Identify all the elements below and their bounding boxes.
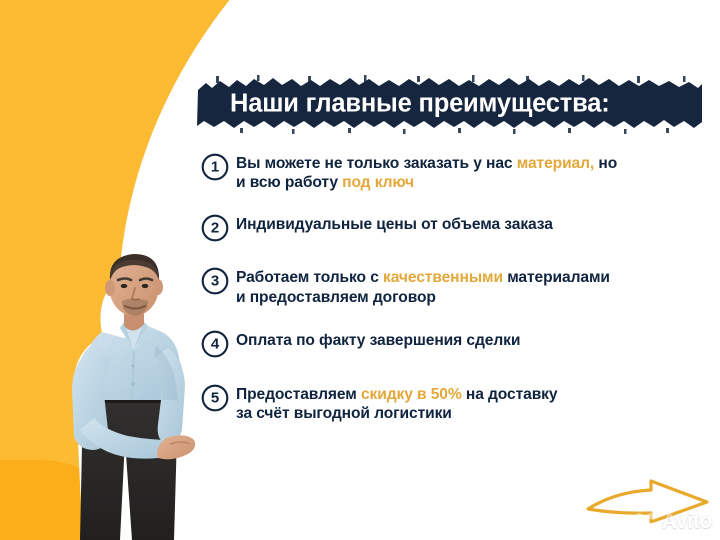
benefit-item: 4Оплата по факту завершения сделки bbox=[201, 329, 701, 358]
benefit-number-3-icon: 3 bbox=[201, 267, 229, 295]
svg-text:2: 2 bbox=[211, 220, 219, 237]
benefit-text-line: Вы можете не только заказать у нас матер… bbox=[236, 154, 617, 173]
benefit-number-1-icon: 1 bbox=[201, 153, 229, 181]
benefit-text: Оплата по факту завершения сделки bbox=[236, 329, 520, 350]
plain-phrase: за счёт выгодной логистики bbox=[236, 405, 452, 422]
benefit-text-line: Предоставляем скидку в 50% на доставку bbox=[236, 385, 557, 404]
benefit-number-4-icon: 4 bbox=[201, 330, 229, 358]
benefit-number-5-icon: 5 bbox=[201, 384, 229, 412]
plain-phrase: Оплата по факту завершения сделки bbox=[236, 332, 520, 349]
promo-poster: Наши главные преимущества: 1Вы можете не… bbox=[0, 0, 720, 540]
man-in-blue-shirt-photo bbox=[28, 168, 218, 540]
page-title: Наши главные преимущества: bbox=[230, 90, 610, 119]
avito-label: Avito bbox=[662, 510, 712, 534]
benefit-text-line: Оплата по факту завершения сделки bbox=[236, 331, 520, 350]
benefit-text: Предоставляем скидку в 50% на доставкуза… bbox=[236, 383, 557, 423]
plain-phrase: Вы можете не только заказать у нас bbox=[236, 155, 517, 172]
benefits-list: 1Вы можете не только заказать у нас мате… bbox=[201, 152, 701, 423]
svg-text:3: 3 bbox=[211, 273, 219, 290]
benefit-number-2-icon: 2 bbox=[201, 214, 229, 242]
benefit-text-line: за счёт выгодной логистики bbox=[236, 404, 557, 423]
plain-phrase: Индивидуальные цены от объема заказа bbox=[236, 216, 553, 233]
benefit-text: Вы можете не только заказать у нас матер… bbox=[236, 152, 617, 192]
benefit-text-line: Работаем только с качественными материал… bbox=[236, 268, 610, 287]
benefit-item: 1Вы можете не только заказать у нас мате… bbox=[201, 152, 701, 192]
svg-text:1: 1 bbox=[211, 159, 219, 176]
plain-phrase: на доставку bbox=[462, 386, 558, 403]
highlighted-phrase: материал, bbox=[517, 155, 594, 172]
plain-phrase: Работаем только с bbox=[236, 269, 383, 286]
title-banner: Наши главные преимущества: bbox=[196, 74, 704, 134]
svg-text:4: 4 bbox=[211, 335, 220, 352]
avito-watermark: Avito bbox=[633, 510, 712, 534]
highlighted-phrase: под ключ bbox=[342, 174, 414, 191]
benefit-text: Индивидуальные цены от объема заказа bbox=[236, 213, 553, 234]
svg-text:5: 5 bbox=[211, 389, 219, 406]
benefit-text-line: и предоставляем договор bbox=[236, 288, 610, 307]
plain-phrase: и всю работу bbox=[236, 174, 342, 191]
avito-dots-icon bbox=[633, 511, 659, 533]
highlighted-phrase: скидку в 50% bbox=[361, 386, 462, 403]
benefit-text: Работаем только с качественными материал… bbox=[236, 266, 610, 306]
benefit-item: 5Предоставляем скидку в 50% на доставкуз… bbox=[201, 383, 701, 423]
benefit-text-line: Индивидуальные цены от объема заказа bbox=[236, 215, 553, 234]
benefit-item: 2Индивидуальные цены от объема заказа bbox=[201, 213, 701, 242]
plain-phrase: Предоставляем bbox=[236, 386, 361, 403]
benefit-text-line: и всю работу под ключ bbox=[236, 173, 617, 192]
plain-phrase: но bbox=[594, 155, 617, 172]
plain-phrase: и предоставляем договор bbox=[236, 289, 436, 306]
highlighted-phrase: качественными bbox=[383, 269, 503, 286]
benefit-item: 3Работаем только с качественными материа… bbox=[201, 266, 701, 306]
plain-phrase: материалами bbox=[503, 269, 610, 286]
